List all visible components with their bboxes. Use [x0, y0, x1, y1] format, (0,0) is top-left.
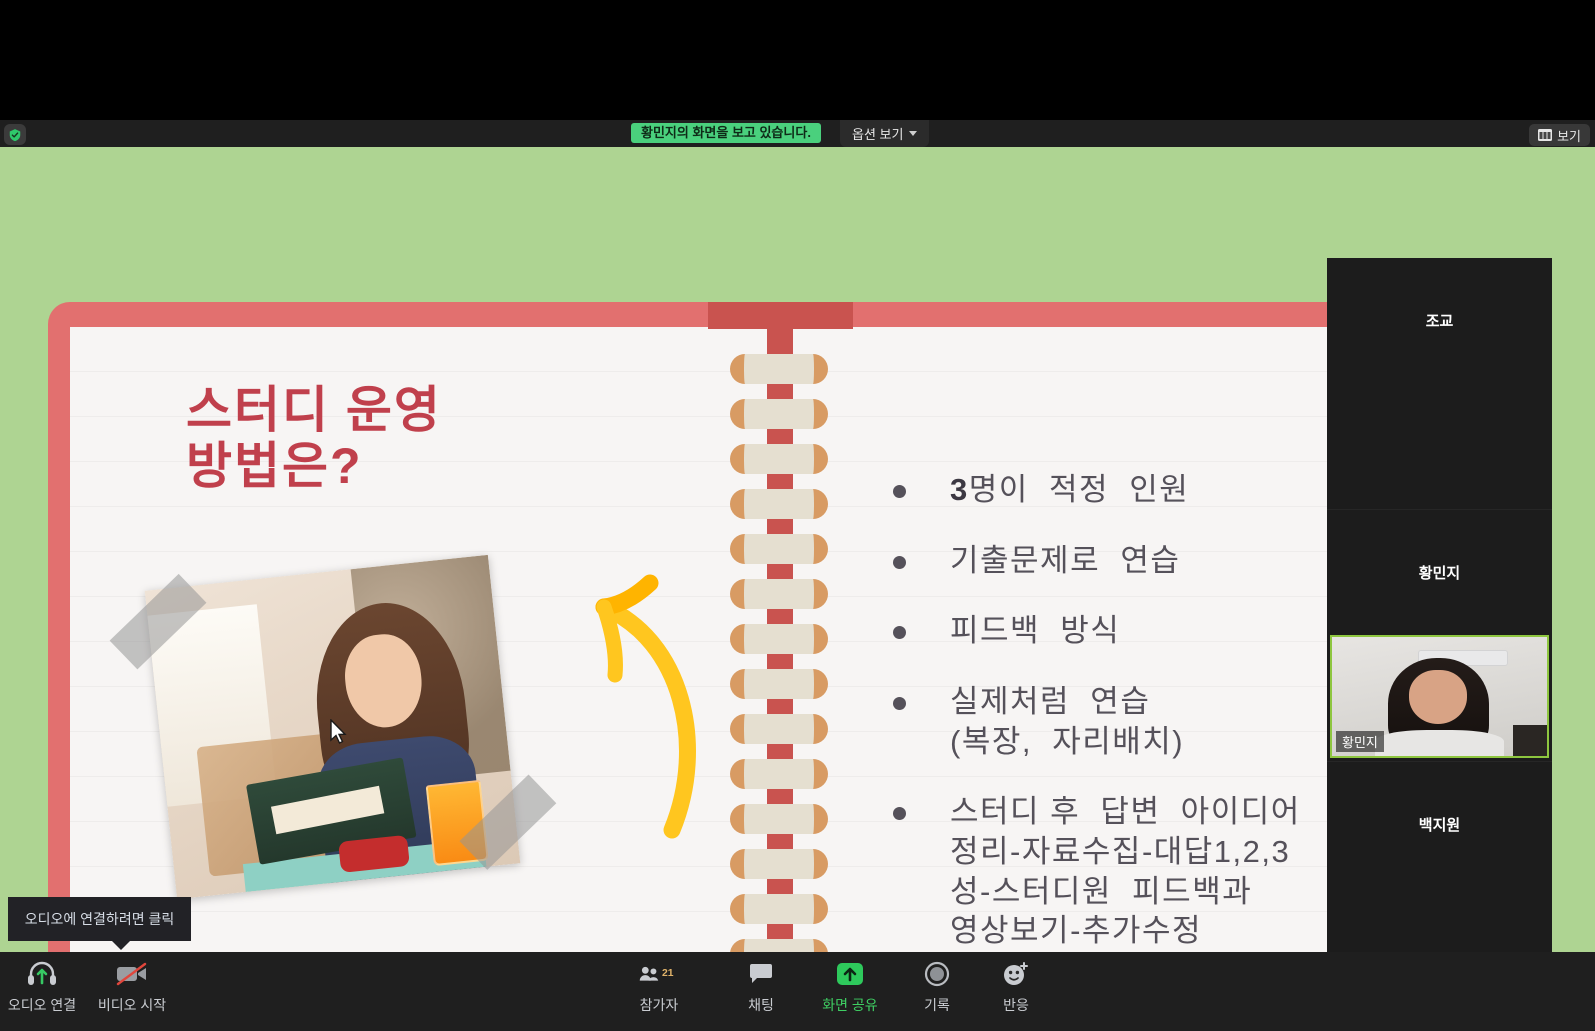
slide-title: 스터디 운영 방법은? [186, 382, 646, 494]
spiral-ring [730, 939, 828, 952]
spiral-ring [730, 489, 828, 519]
share-screen-label: 화면 공유 [822, 995, 877, 1015]
participants-label: 참가자 [640, 995, 679, 1015]
spiral-ring [730, 399, 828, 429]
spiral-ring [730, 714, 828, 744]
audio-tooltip: 오디오에 연결하려면 클릭 [8, 897, 191, 941]
bullet-dot-icon [893, 697, 906, 710]
reactions-label: 반응 [1003, 995, 1029, 1015]
start-video-button[interactable]: 비디오 시작 [99, 958, 165, 1024]
view-options-label: 옵션 보기 [852, 124, 903, 143]
shield-check-icon[interactable] [4, 124, 26, 145]
slide-bullet-text: 스터디 후 답변 아이디어 정리-자료수집-대답1,2,3 성-스터디원 피드백… [950, 792, 1301, 951]
spiral-ring [730, 759, 828, 789]
participant-video: 황민지 [1330, 635, 1549, 758]
spiral-ring [730, 444, 828, 474]
bullet-dot-icon [893, 556, 906, 569]
record-button[interactable]: 기록 [907, 958, 967, 1024]
participant-name: 황민지 [1327, 562, 1552, 583]
chat-bubble-icon [748, 958, 774, 990]
smiley-plus-icon [1002, 958, 1030, 990]
svg-text:21: 21 [662, 968, 674, 979]
camera-off-icon [115, 958, 149, 990]
chat-label: 채팅 [748, 995, 774, 1015]
reactions-button[interactable]: 반응 [986, 958, 1046, 1024]
spiral-ring [730, 894, 828, 924]
view-layout-button[interactable]: 보기 [1529, 124, 1590, 146]
spiral-ring [730, 804, 828, 834]
slide-bullet-text: 피드백 방식 [950, 611, 1120, 651]
notebook-spiral-rings [730, 354, 830, 952]
participant-filmstrip[interactable]: 조교황민지황민지백지원김도훈김도훈박승혜전미연 [1327, 258, 1552, 1031]
share-screen-button[interactable]: 화면 공유 [812, 958, 888, 1024]
participant-name: 백지원 [1327, 814, 1552, 835]
zoom-meeting-window: 스터디 운영 방법은? [0, 0, 1595, 1031]
chevron-down-icon [909, 131, 917, 136]
video-person-face [1409, 670, 1467, 724]
spiral-ring [730, 579, 828, 609]
letterbox-top-bar [0, 0, 1595, 120]
spiral-ring [730, 534, 828, 564]
slide-bullet-text: 실제처럼 연습 (복장, 자리배치) [950, 682, 1184, 761]
bullet-dot-icon [893, 485, 906, 498]
start-video-label: 비디오 시작 [98, 995, 166, 1015]
screen-sharing-banner: 황민지의 화면을 보고 있습니다. [631, 123, 821, 143]
video-dark-corner [1513, 725, 1547, 756]
participants-button[interactable]: 21 참가자 [627, 958, 691, 1024]
record-circle-icon [924, 958, 950, 990]
view-options-button[interactable]: 옵션 보기 [840, 120, 929, 147]
chat-button[interactable]: 채팅 [731, 958, 791, 1024]
meeting-toolbar: 오디오 연결 비디오 시작 [0, 952, 1595, 1031]
participant-name-badge: 황민지 [1336, 731, 1384, 752]
slide-title-line2: 방법은? [186, 438, 646, 494]
slide-bullet-text: 기출문제로 연습 [950, 541, 1180, 581]
curved-arrow-icon [532, 545, 732, 845]
bullet-dot-icon [893, 626, 906, 639]
bullet-dot-icon [893, 807, 906, 820]
mouse-cursor-icon [329, 719, 347, 745]
join-audio-label: 오디오 연결 [8, 995, 76, 1015]
participant-name: 조교 [1327, 310, 1552, 331]
spiral-ring [730, 354, 828, 384]
slide-title-line1: 스터디 운영 [186, 382, 646, 438]
share-screen-up-arrow-icon [833, 958, 867, 990]
spiral-ring [730, 669, 828, 699]
participant-tile[interactable]: 황민지황민지 [1327, 510, 1552, 762]
spiral-ring [730, 624, 828, 654]
view-button-label: 보기 [1557, 126, 1581, 145]
participant-tile[interactable]: 조교 [1327, 258, 1552, 510]
join-audio-button[interactable]: 오디오 연결 [10, 958, 74, 1024]
people-icon: 21 [639, 958, 679, 990]
grid-view-icon [1538, 129, 1552, 141]
video-person-body [1375, 730, 1504, 758]
slide-bullet-text: 3명이 적정 인원 [950, 470, 1189, 510]
record-label: 기록 [924, 995, 950, 1015]
spiral-ring [730, 849, 828, 879]
headset-join-audio-icon [26, 958, 58, 990]
